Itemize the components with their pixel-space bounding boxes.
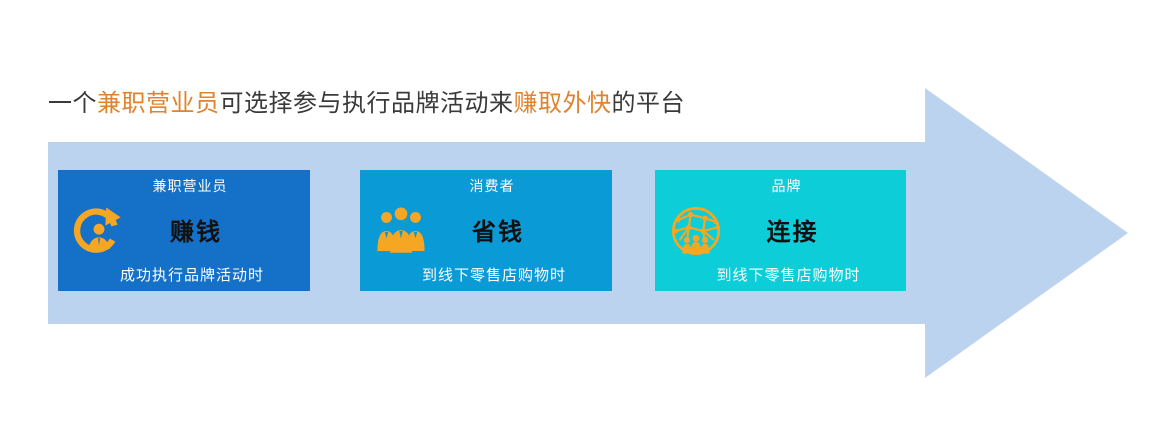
card-footer-label: 到线下零售店购物时 (655, 264, 906, 285)
headline-segment-1: 一个 (48, 90, 97, 117)
card-footer-label: 到线下零售店购物时 (360, 264, 612, 285)
slide-canvas: 一个兼职营业员可选择参与执行品牌活动来赚取外快的平台 兼职营业员 赚钱 成功执行… (0, 0, 1150, 430)
page-title: 一个兼职营业员可选择参与执行品牌活动来赚取外快的平台 (48, 88, 685, 120)
card-footer-label: 成功执行品牌活动时 (58, 264, 310, 285)
card-header-label: 兼职营业员 (58, 176, 310, 196)
headline-segment-5: 的平台 (612, 90, 686, 117)
headline-segment-2-accent: 兼职营业员 (97, 90, 220, 117)
value-card-brand[interactable]: 品牌 (655, 170, 906, 291)
value-card-consumer[interactable]: 消费者 (360, 170, 612, 291)
value-card-row: 兼职营业员 赚钱 成功执行品牌活动时 消费者 (58, 170, 918, 291)
headline-segment-3: 可选择参与执行品牌活动来 (220, 90, 514, 117)
card-main-label: 赚钱 (58, 212, 310, 247)
card-main-label: 省钱 (360, 212, 612, 247)
value-card-part-time-promoter[interactable]: 兼职营业员 赚钱 成功执行品牌活动时 (58, 170, 310, 291)
card-main-label: 连接 (655, 212, 906, 247)
headline-segment-4-accent: 赚取外快 (514, 90, 612, 117)
card-header-label: 消费者 (360, 176, 612, 196)
card-header-label: 品牌 (655, 176, 906, 196)
